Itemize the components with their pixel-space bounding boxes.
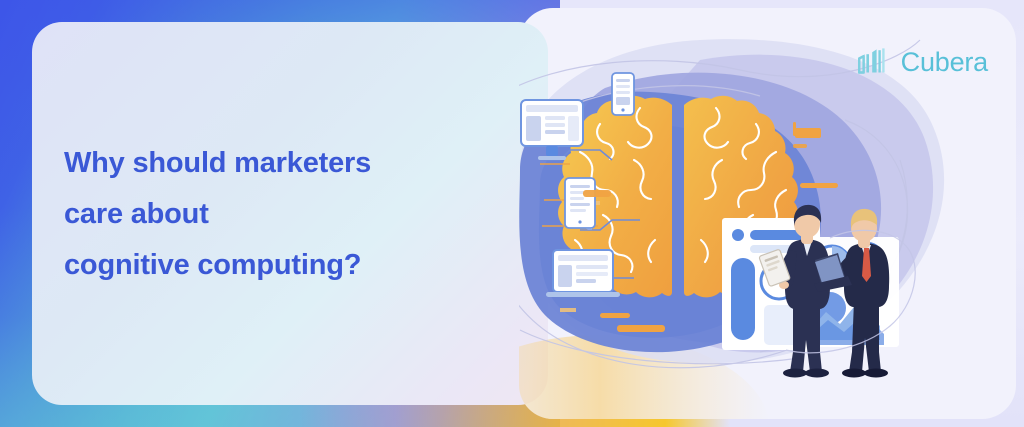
- brand-logo[interactable]: Cubera: [856, 44, 988, 80]
- headline-line-2: care about: [64, 189, 484, 240]
- bar-building-icon: [856, 44, 892, 80]
- headline-line-3: cognitive computing?: [64, 240, 484, 291]
- cognitive-computing-banner: Why should marketers care about cognitiv…: [0, 0, 1024, 427]
- brand-name: Cubera: [901, 49, 988, 76]
- page-title: Why should marketers care about cognitiv…: [64, 138, 484, 291]
- headline-line-1: Why should marketers: [64, 138, 484, 189]
